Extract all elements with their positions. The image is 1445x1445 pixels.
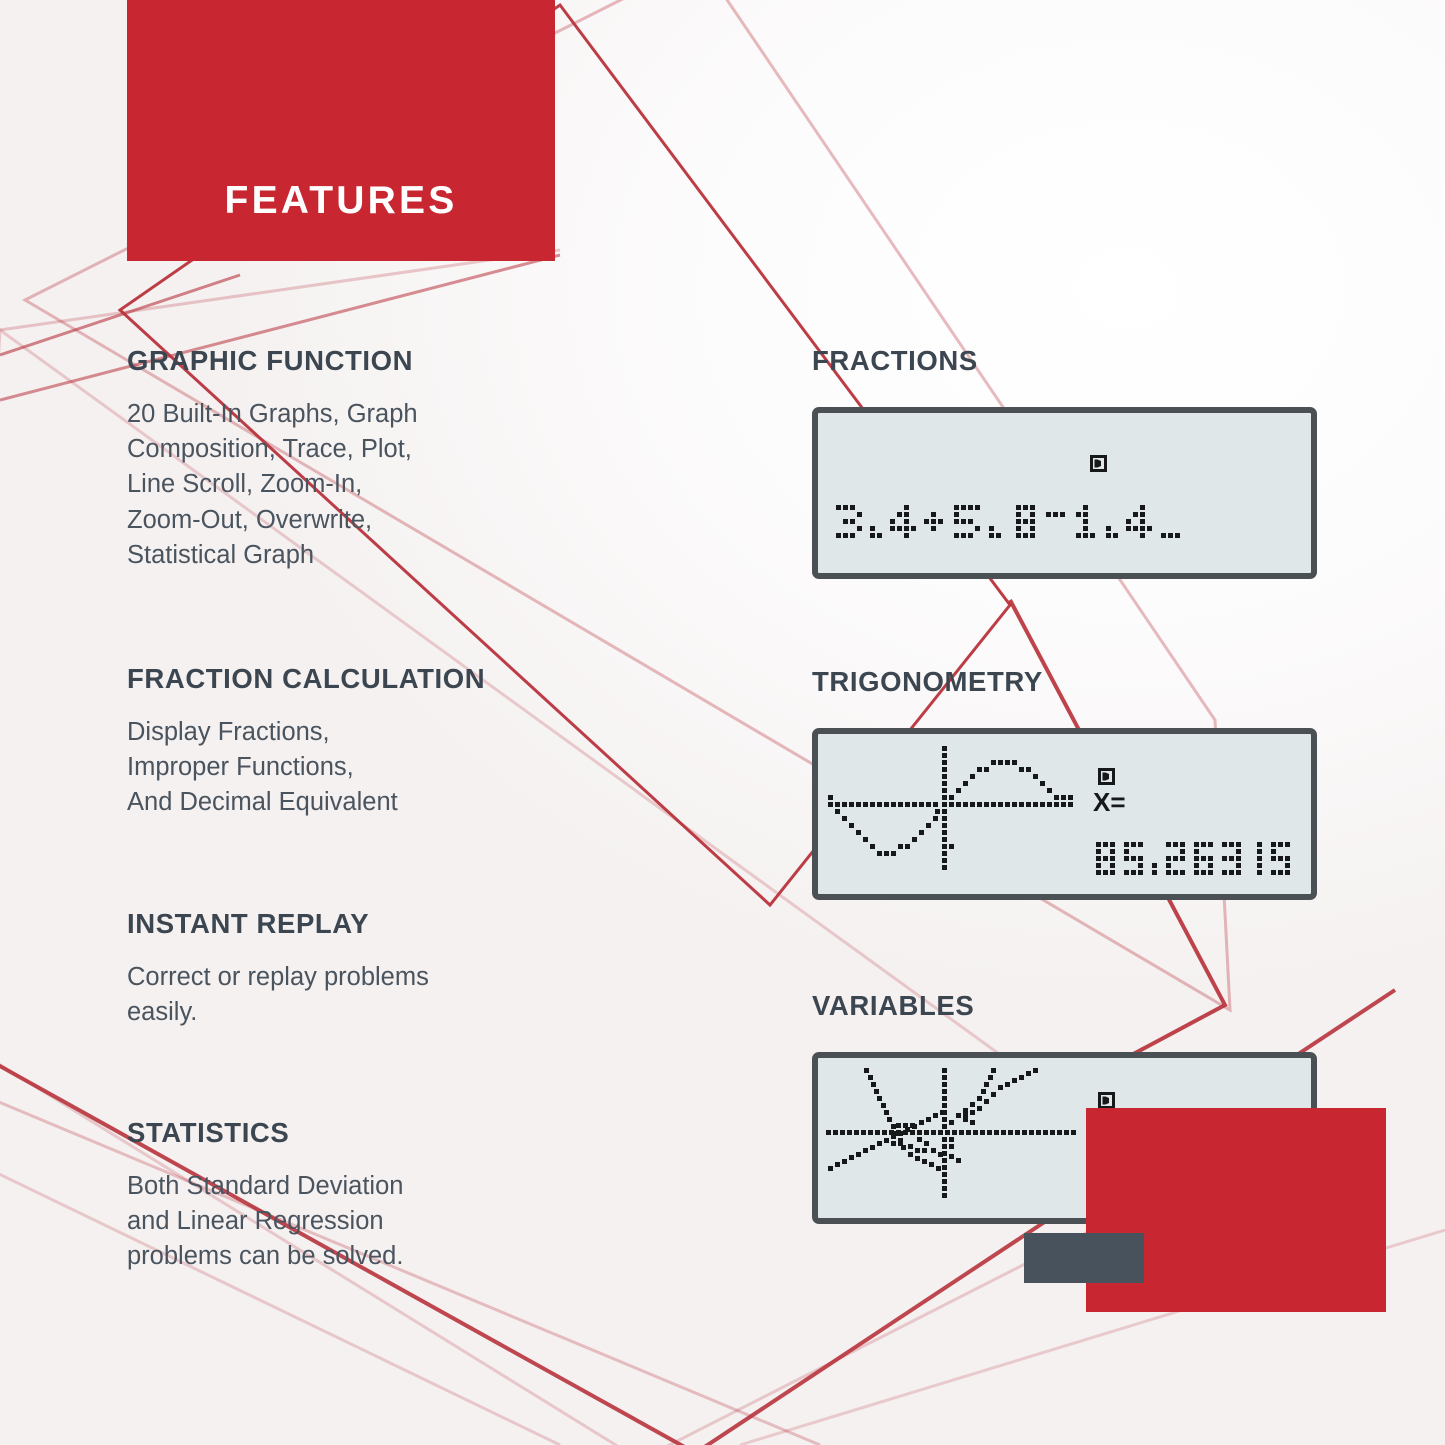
panel-heading: FRACTIONS <box>812 345 1317 377</box>
feature-fraction-calculation: FRACTION CALCULATION Display Fractions, … <box>127 663 485 821</box>
result-value-dot-matrix <box>1096 842 1290 875</box>
panel-heading: TRIGONOMETRY <box>812 666 1317 698</box>
feature-heading: FRACTION CALCULATION <box>127 663 485 695</box>
page-title: FEATURES <box>225 179 458 261</box>
feature-graphic-function: GRAPHIC FUNCTION 20 Built-In Graphs, Gra… <box>127 345 418 573</box>
feature-statistics: STATISTICS Both Standard Deviation and L… <box>127 1117 403 1275</box>
feature-body: Display Fractions, Improper Functions, A… <box>127 715 485 821</box>
feature-heading: STATISTICS <box>127 1117 403 1149</box>
lcd-content-fractions <box>818 413 1311 573</box>
gray-accent-block <box>1024 1233 1144 1283</box>
degree-mode-icon <box>1098 768 1115 785</box>
feature-instant-replay: INSTANT REPLAY Correct or replay problem… <box>127 908 429 1030</box>
feature-heading: GRAPHIC FUNCTION <box>127 345 418 377</box>
feature-body: Both Standard Deviation and Linear Regre… <box>127 1169 403 1275</box>
degree-mode-icon <box>1098 1092 1115 1109</box>
poster-root: FEATURES GRAPHIC FUNCTION 20 Built-In Gr… <box>0 0 1445 1445</box>
calculator-display-trigonometry: X= <box>812 728 1317 900</box>
linear-lines-graph <box>826 1068 1076 1198</box>
calculator-display-fractions <box>812 407 1317 579</box>
features-title-block: FEATURES <box>127 0 555 261</box>
x-prompt-label: X= <box>1093 787 1126 817</box>
panel-fractions: FRACTIONS <box>812 345 1317 579</box>
lcd-content-trigonometry: X= <box>818 734 1311 894</box>
feature-heading: INSTANT REPLAY <box>127 908 429 940</box>
degree-mode-icon <box>1090 455 1107 472</box>
expression-dot-matrix <box>836 505 1180 538</box>
feature-body: Correct or replay problems easily. <box>127 960 429 1030</box>
sine-wave-graph <box>828 746 1073 870</box>
feature-body: 20 Built-In Graphs, Graph Composition, T… <box>127 397 418 573</box>
panel-heading: VARIABLES <box>812 990 1317 1022</box>
panel-trigonometry: TRIGONOMETRY <box>812 666 1317 900</box>
